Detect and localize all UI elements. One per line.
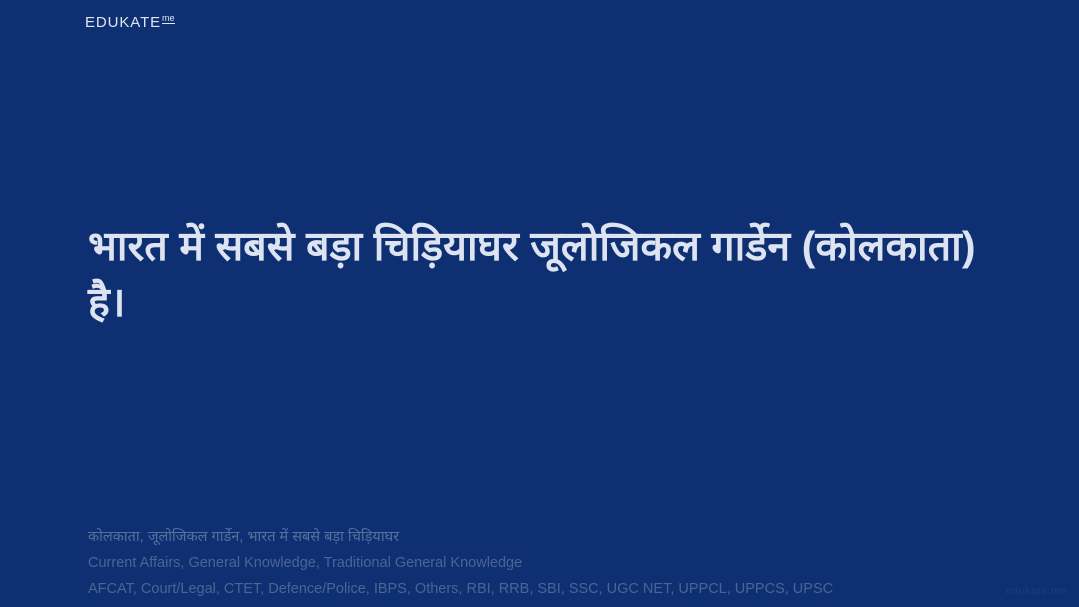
brand-superscript: me	[162, 14, 175, 24]
page-title: भारत में सबसे बड़ा चिड़ियाघर जूलोजिकल गा…	[88, 218, 988, 330]
footer-tags: कोलकाता, जूलोजिकल गार्डेन, भारत में सबसे…	[88, 524, 1028, 550]
footer-exams: AFCAT, Court/Legal, CTET, Defence/Police…	[88, 576, 1028, 602]
footer-meta-block: कोलकाता, जूलोजिकल गार्डेन, भारत में सबसे…	[88, 524, 1028, 602]
footer-categories: Current Affairs, General Knowledge, Trad…	[88, 550, 1028, 576]
brand-logo[interactable]: EDUKATE me	[85, 15, 175, 30]
slide-canvas: EDUKATE me भारत में सबसे बड़ा चिड़ियाघर …	[0, 0, 1079, 607]
brand-name: EDUKATE	[85, 15, 161, 30]
corner-watermark: edukate.me	[1006, 585, 1067, 597]
